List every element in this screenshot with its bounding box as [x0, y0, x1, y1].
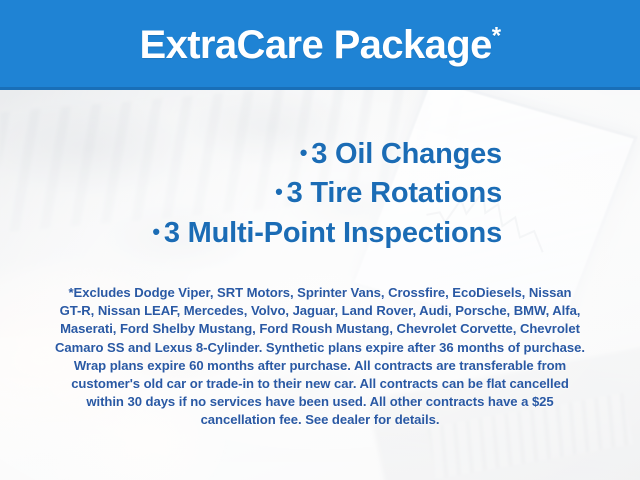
disclaimer-line: GT-R, Nissan LEAF, Mercedes, Volvo, Jagu…: [26, 302, 614, 320]
disclaimer-line: Maserati, Ford Shelby Mustang, Ford Rous…: [26, 320, 614, 338]
list-item-label: 3 Multi-Point Inspections: [164, 217, 502, 249]
page-title-text: ExtraCare Package: [139, 23, 491, 67]
disclaimer-text: *Excludes Dodge Viper, SRT Motors, Sprin…: [26, 284, 614, 430]
bullet-dot-icon: •: [275, 179, 283, 204]
disclaimer-line: within 30 days if no services have been …: [26, 393, 614, 411]
extracare-package-ad: ExtraCare Package* •3 Oil Changes •3 Tir…: [0, 0, 640, 480]
header-banner: ExtraCare Package*: [0, 0, 640, 90]
disclaimer-line: cancellation fee. See dealer for details…: [26, 411, 614, 429]
disclaimer-line: customer's old car or trade-in to their …: [26, 375, 614, 393]
disclaimer-line: Camaro SS and Lexus 8-Cylinder. Syntheti…: [26, 339, 614, 357]
disclaimer-line: Wrap plans expire 60 months after purcha…: [26, 357, 614, 375]
list-item-label: 3 Tire Rotations: [287, 177, 502, 209]
list-item: •3 Tire Rotations: [0, 174, 502, 213]
page-title: ExtraCare Package*: [139, 25, 500, 65]
benefits-list: •3 Oil Changes •3 Tire Rotations •3 Mult…: [0, 135, 640, 253]
list-item-label: 3 Oil Changes: [311, 138, 502, 170]
list-item: •3 Oil Changes: [0, 135, 502, 174]
disclaimer-line: *Excludes Dodge Viper, SRT Motors, Sprin…: [26, 284, 614, 302]
bullet-dot-icon: •: [300, 140, 308, 165]
page-title-footnote-marker: *: [492, 23, 501, 50]
list-item: •3 Multi-Point Inspections: [0, 214, 502, 253]
bullet-dot-icon: •: [152, 219, 160, 244]
